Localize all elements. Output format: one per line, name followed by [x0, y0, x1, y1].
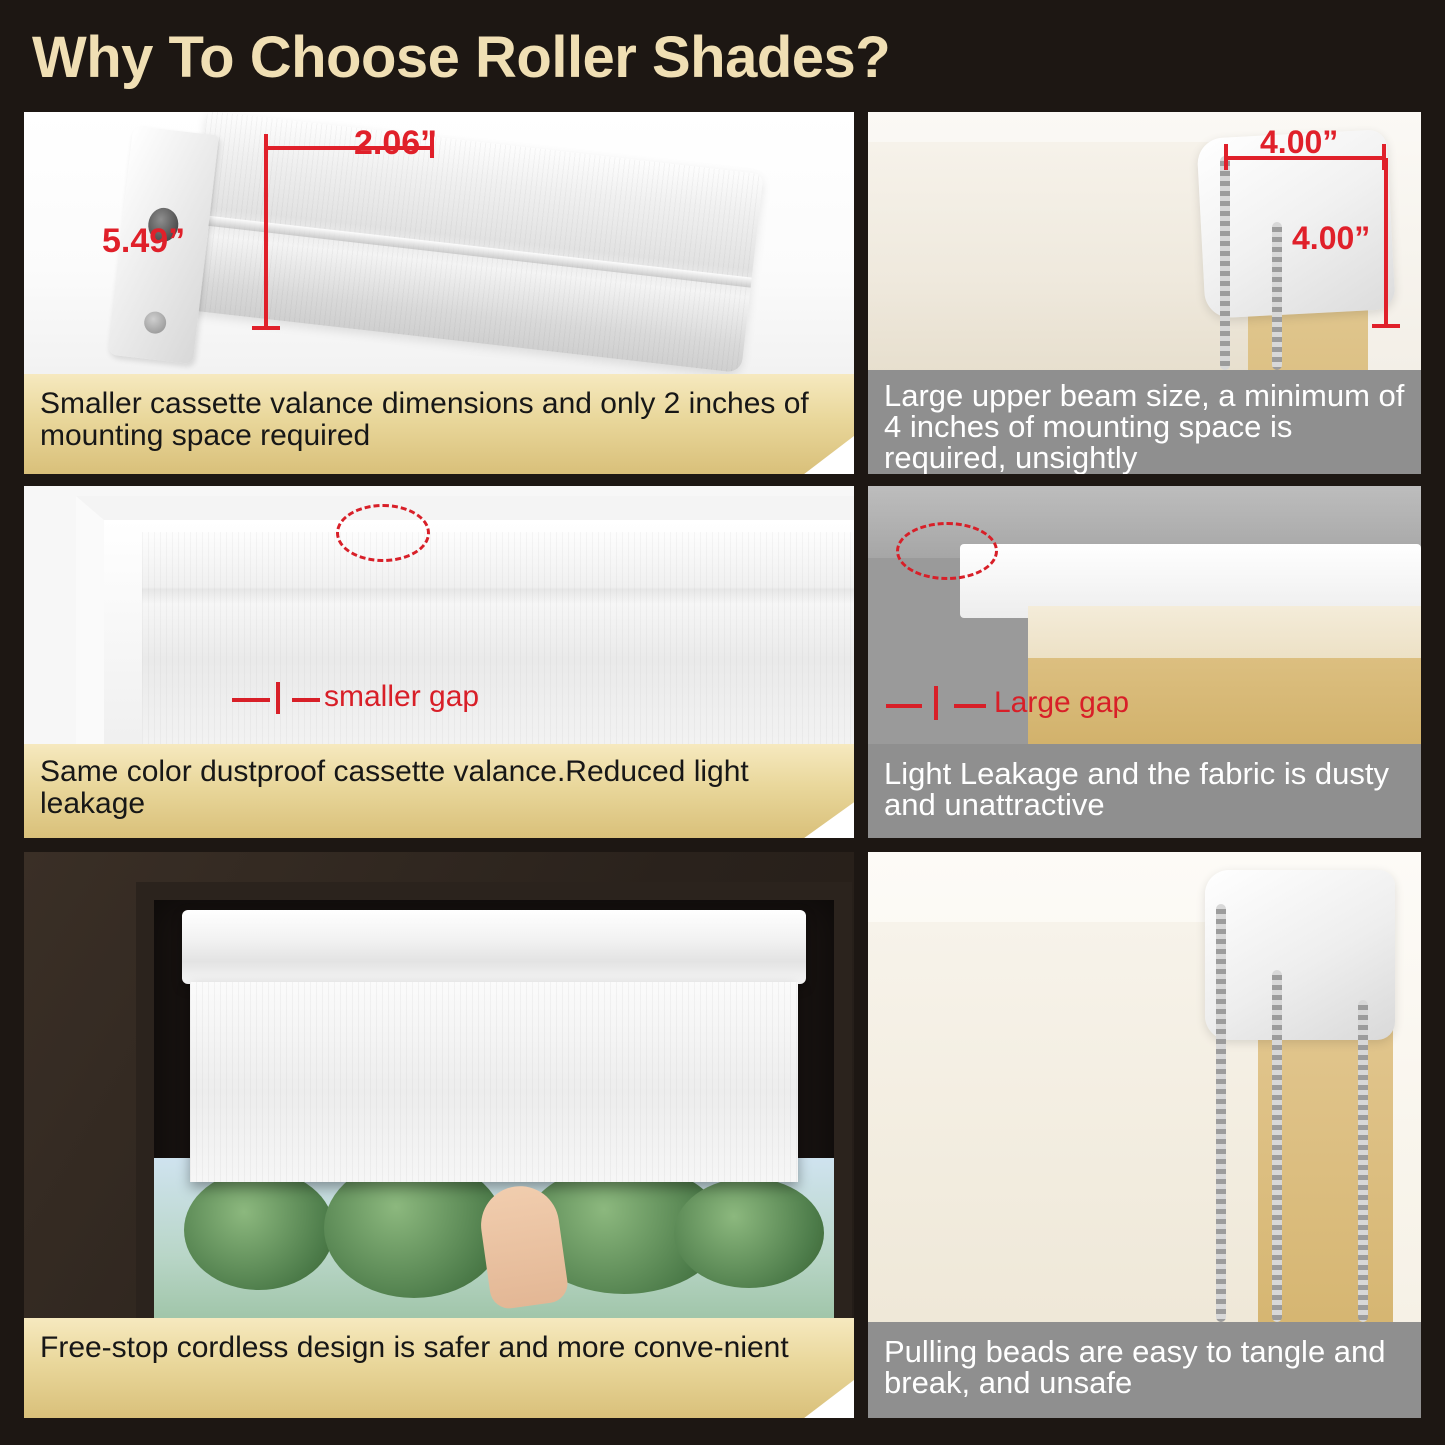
card-1-photo: 2.06” 5.49” — [24, 112, 854, 374]
card-3-caption: Same color dustproof cassette valance.Re… — [24, 744, 854, 838]
height-dimension-line-lower — [264, 262, 268, 330]
bead-chain-far-right — [1358, 1000, 1368, 1322]
bead-chain-left — [1216, 904, 1226, 1322]
card-5: Free-stop cordless design is safer and m… — [24, 852, 854, 1418]
card-5-photo — [24, 852, 854, 1318]
beam-height-label: 4.00” — [1292, 220, 1370, 257]
card-3: smaller gap Same color dustproof cassett… — [24, 486, 854, 838]
endcap-screw — [143, 310, 167, 334]
card-4: Large gap Light Leakage and the fabric i… — [868, 486, 1421, 838]
gap-label: Large gap — [994, 686, 1129, 720]
cassette-valance — [182, 910, 806, 984]
card-5-caption: Free-stop cordless design is safer and m… — [24, 1318, 854, 1418]
gap-tick — [276, 682, 280, 714]
card-4-photo: Large gap — [868, 486, 1421, 744]
beam-height-line — [1384, 158, 1388, 328]
beam-width-label: 4.00” — [1260, 124, 1338, 161]
gap-label: smaller gap — [324, 680, 479, 714]
card-1-caption: Smaller cassette valance dimensions and … — [24, 374, 854, 474]
card-2: 4.00” 4.00” Large upper beam size, a min… — [868, 112, 1421, 474]
roller-shade-fabric — [190, 982, 798, 1182]
card-6: Pulling beads are easy to tangle and bre… — [868, 852, 1421, 1418]
beam-width-tick-left — [1224, 144, 1228, 170]
height-dimension-tick-bottom — [252, 326, 280, 330]
window-frame — [136, 882, 852, 1318]
gap-tick — [934, 686, 938, 720]
bead-chain-left — [1220, 156, 1230, 370]
bead-chain-right — [1272, 222, 1282, 370]
highlight-ellipse — [336, 504, 430, 562]
page-title: Why To Choose Roller Shades? — [32, 24, 890, 91]
card-6-caption: Pulling beads are easy to tangle and bre… — [868, 1322, 1421, 1418]
tree-4 — [674, 1178, 824, 1288]
tree-1 — [184, 1170, 334, 1290]
fabric-upper — [1028, 606, 1421, 662]
height-dimension-label: 5.49” — [102, 222, 185, 261]
card-2-caption: Large upper beam size, a minimum of 4 in… — [868, 370, 1421, 474]
card-3-photo: smaller gap — [24, 486, 854, 744]
highlight-ellipse — [896, 522, 998, 580]
card-4-caption: Light Leakage and the fabric is dusty an… — [868, 744, 1421, 838]
gap-arrow-left — [886, 704, 922, 708]
width-dimension-label: 2.06” — [354, 124, 437, 163]
shade-fabric — [142, 532, 854, 744]
infographic-page: Why To Choose Roller Shades? 2.06” 5.49”… — [0, 0, 1445, 1445]
card-1: 2.06” 5.49” Smaller cassette valance dim… — [24, 112, 854, 474]
beam-height-tick-bottom — [1372, 324, 1400, 328]
gap-arrow-right — [292, 698, 320, 702]
card-6-photo — [868, 852, 1421, 1322]
bead-chain-right — [1272, 970, 1282, 1322]
card-2-photo: 4.00” 4.00” — [868, 112, 1421, 370]
gap-arrow-left — [232, 698, 270, 702]
gap-arrow-right — [954, 704, 986, 708]
